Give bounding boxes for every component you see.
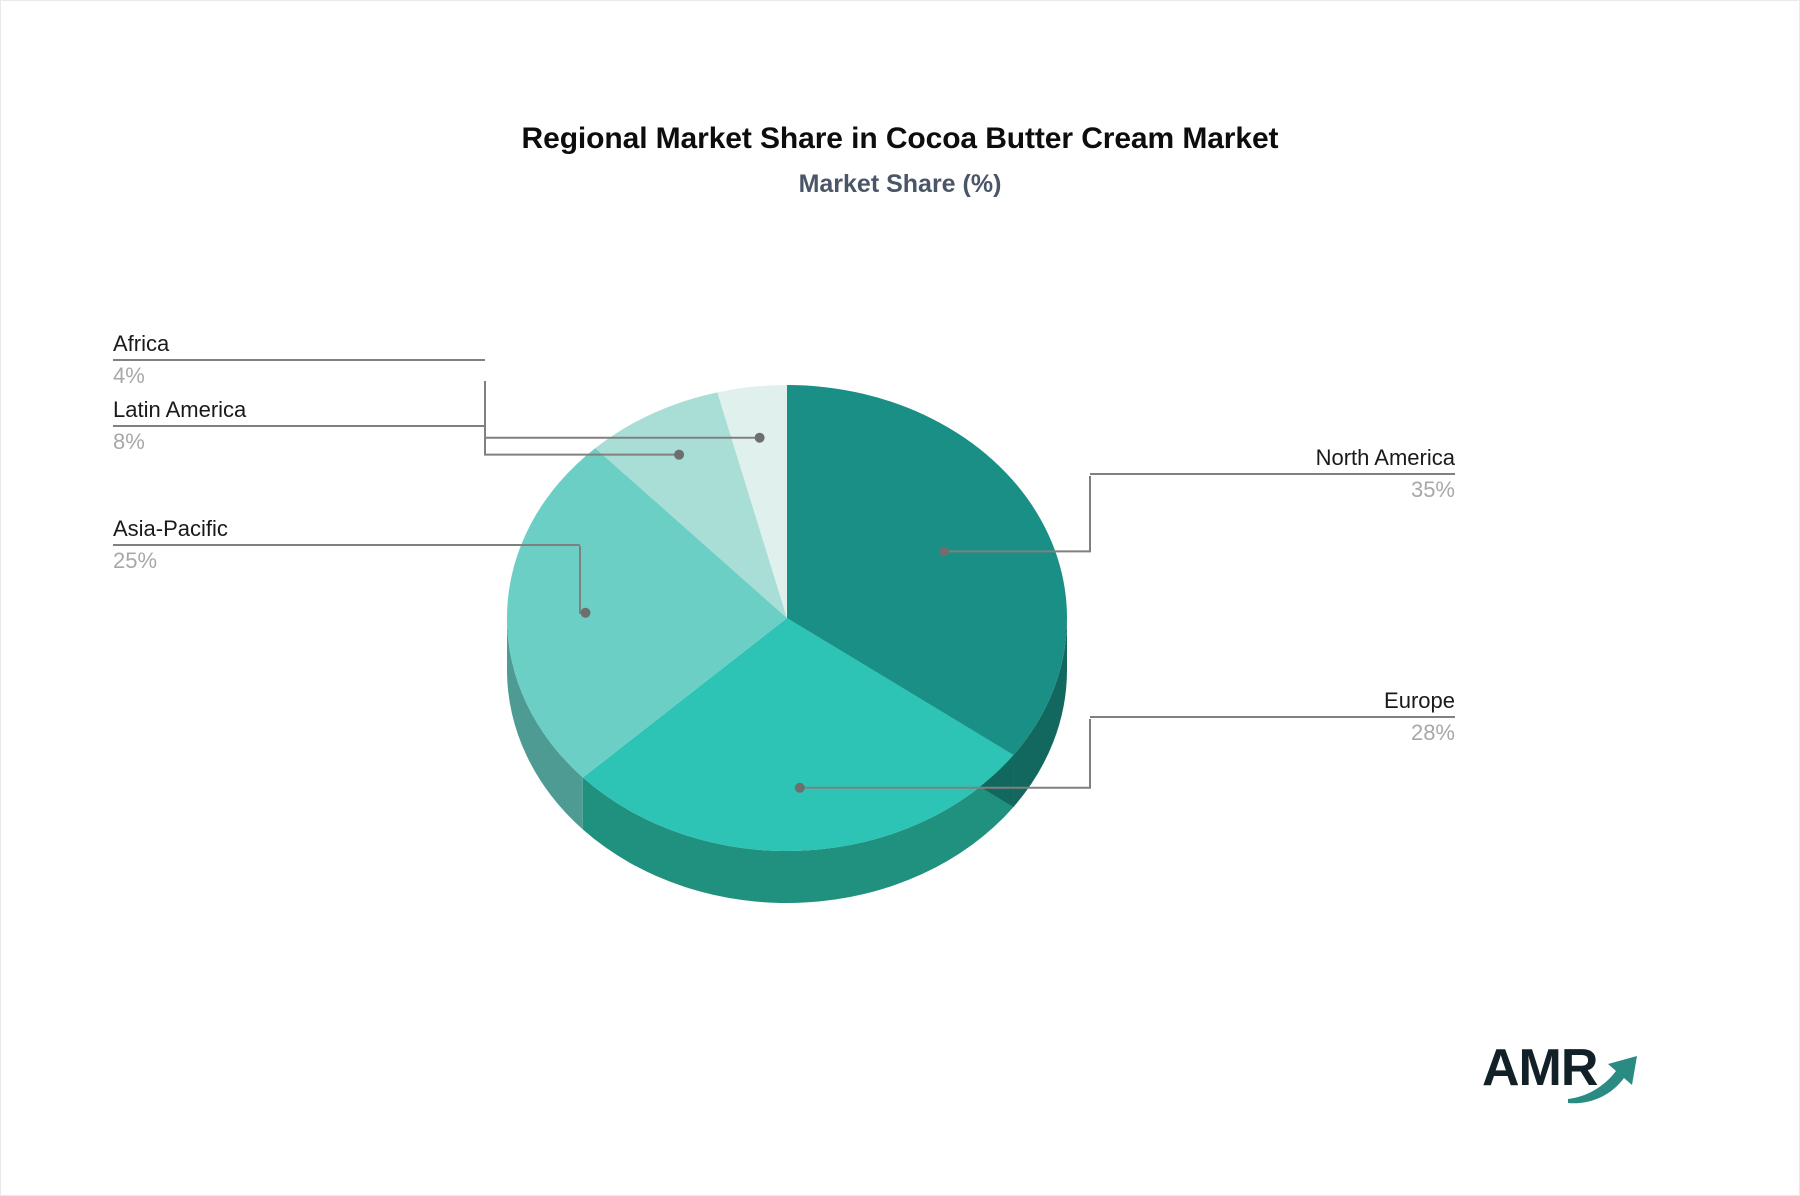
callout-north-america-value: 35% [1090,475,1455,505]
callout-africa-value: 4% [113,361,485,391]
callout-asia-pacific-value: 25% [113,546,580,576]
pie-chart-graphic [0,0,1800,1196]
callout-europe-value: 28% [1090,718,1455,748]
leader-dot-europe [795,783,805,793]
callout-asia-pacific[interactable]: Asia-Pacific 25% [113,514,580,576]
pie-slices-group [507,385,1067,903]
callout-africa-label: Africa [113,329,485,359]
callout-europe[interactable]: Europe 28% [1090,686,1455,748]
amr-logo-text: AMR [1482,1039,1598,1097]
leader-dot-africa [755,433,765,443]
callout-north-america[interactable]: North America 35% [1090,443,1455,505]
amr-logo: AMR [1482,1035,1662,1105]
callout-latin-america[interactable]: Latin America 8% [113,395,485,457]
leader-dot-north-america [939,546,949,556]
callout-latin-america-value: 8% [113,427,485,457]
callout-north-america-label: North America [1090,443,1455,473]
callout-africa[interactable]: Africa 4% [113,329,485,391]
leader-dot-latin-america [674,450,684,460]
callout-europe-label: Europe [1090,686,1455,716]
chart-canvas: Regional Market Share in Cocoa Butter Cr… [0,0,1800,1196]
callout-latin-america-label: Latin America [113,395,485,425]
leader-dot-asia-pacific [580,608,590,618]
callout-asia-pacific-label: Asia-Pacific [113,514,580,544]
